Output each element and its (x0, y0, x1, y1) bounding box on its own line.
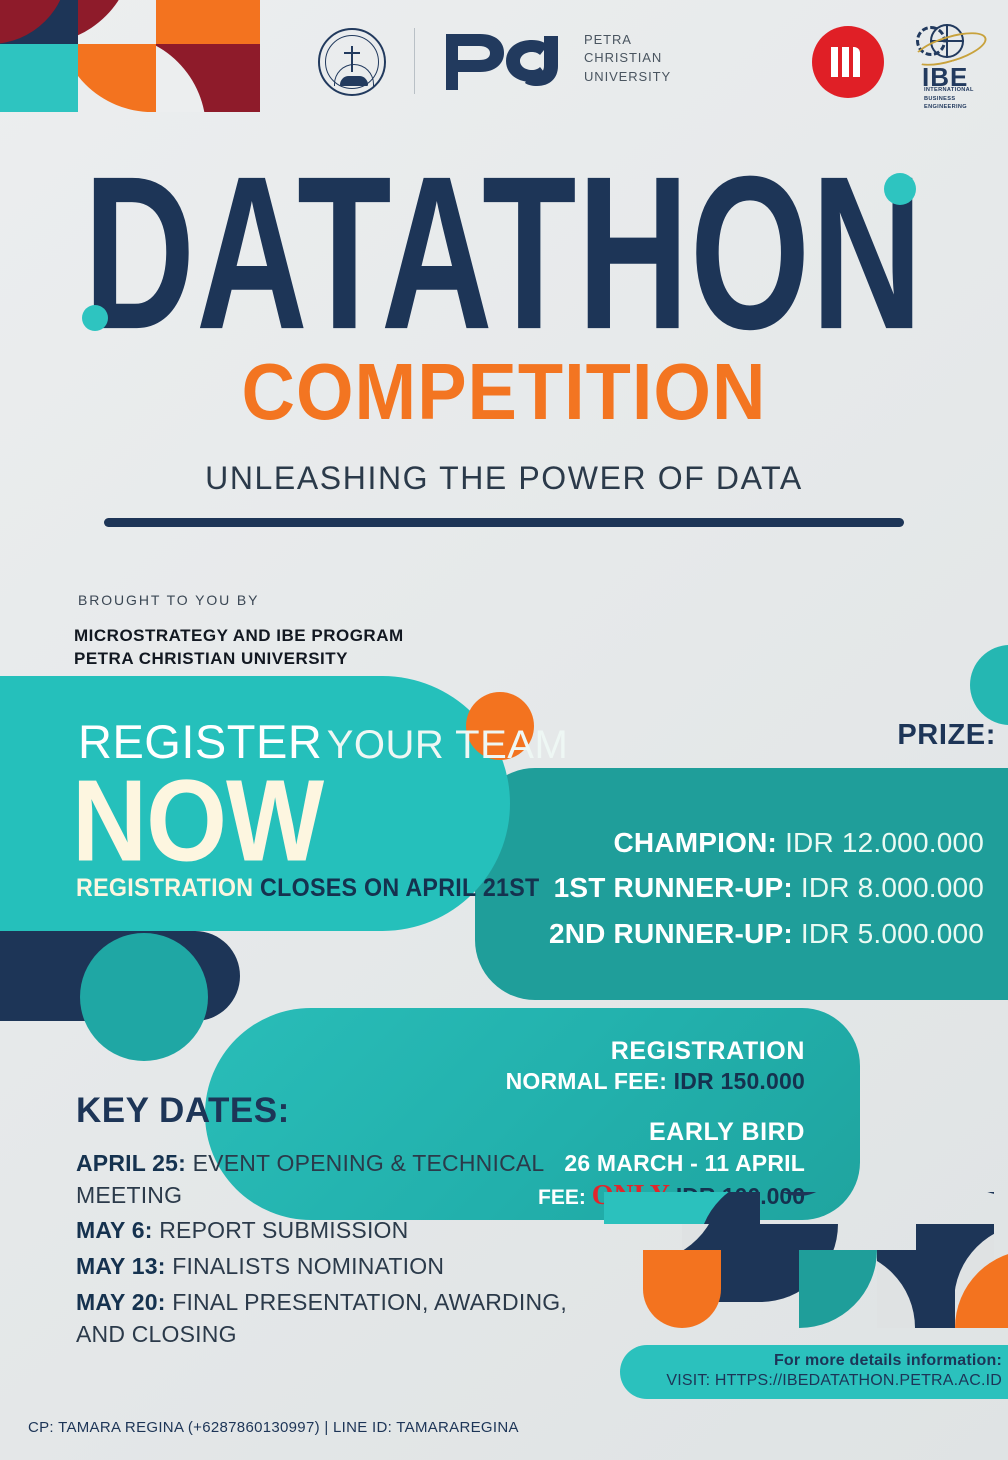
key-date-date: MAY 13: (76, 1253, 166, 1279)
pcu-name-line3: UNIVERSITY (584, 68, 671, 86)
petra-university-seal-icon (318, 28, 386, 96)
brought-by-organizers: MICROSTRATEGY AND IBE PROGRAM PETRA CHRI… (74, 625, 404, 671)
register-now-word: NOW (72, 755, 323, 888)
registration-closing-note: REGISTRATION CLOSES ON APRIL 21ST (76, 874, 540, 903)
geo-tile (877, 1250, 955, 1328)
register-your-team: YOUR TEAM (327, 723, 569, 767)
ibe-subtitle: INTERNATIONAL BUSINESS ENGINEERING (924, 86, 974, 112)
ibe-logo-icon: IBE INTERNATIONAL BUSINESS ENGINEERING (908, 22, 1000, 106)
fee-normal-row: NORMAL FEE: IDR 150.000 (205, 1068, 805, 1095)
key-date-item: APRIL 25: EVENT OPENING & TECHNICAL MEET… (76, 1148, 616, 1211)
ibe-sub-line1: INTERNATIONAL (924, 86, 974, 95)
key-date-date: MAY 20: (76, 1289, 166, 1315)
seal-base-shape (340, 76, 368, 86)
pcu-name-line2: CHRISTIAN (584, 49, 671, 67)
poster-canvas: PETRA CHRISTIAN UNIVERSITY IBE INTERNATI… (0, 0, 1008, 1460)
closing-bold: REGISTRATION (76, 874, 253, 902)
key-date-item: MAY 20: FINAL PRESENTATION, AWARDING, AN… (76, 1287, 616, 1350)
pcu-name-line1: PETRA (584, 31, 671, 49)
geo-tile (799, 1250, 877, 1328)
decorative-circle-right (970, 645, 1008, 725)
key-date-date: MAY 6: (76, 1217, 153, 1243)
prize-amount: IDR 8.000.000 (801, 872, 984, 903)
decorative-teal-circle-left (80, 933, 208, 1061)
microstrategy-bars-shape (831, 47, 865, 77)
key-dates-title: KEY DATES: (76, 1091, 290, 1131)
ibe-sub-line3: ENGINEERING (924, 103, 974, 112)
microstrategy-logo-icon (812, 26, 884, 98)
fee-normal-label: NORMAL FEE: (506, 1068, 668, 1094)
organizer-line2: PETRA CHRISTIAN UNIVERSITY (74, 648, 404, 671)
geo-tile (604, 1192, 682, 1224)
prize-amount: IDR 12.000.000 (785, 827, 984, 858)
fee-normal-amount: IDR 150.000 (674, 1068, 805, 1094)
teal-dot-left-icon (82, 305, 108, 331)
geo-tile (838, 1192, 916, 1224)
closing-rest: CLOSES ON APRIL 21ST (260, 874, 539, 902)
geo-tile (955, 1250, 1008, 1328)
pcu-name-text: PETRA CHRISTIAN UNIVERSITY (584, 31, 671, 86)
geo-tile (760, 1192, 838, 1224)
prize-amount: IDR 5.000.000 (801, 918, 984, 949)
geo-tile (643, 1250, 721, 1328)
prize-place: 1ST RUNNER-UP: (554, 872, 793, 903)
key-date-item: MAY 13: FINALISTS NOMINATION (76, 1251, 616, 1283)
title-divider-rule (104, 518, 904, 527)
footer-contact-person: CP: TAMARA REGINA (+6287860130997) | LIN… (28, 1419, 519, 1436)
pcu-wordmark-icon (440, 30, 568, 94)
page-subtitle: COMPETITION (0, 346, 1008, 438)
brought-by-label: BROUGHT TO YOU BY (78, 592, 259, 608)
prize-place: 2ND RUNNER-UP: (549, 918, 793, 949)
key-dates-list: APRIL 25: EVENT OPENING & TECHNICAL MEET… (76, 1148, 616, 1354)
logo-divider (414, 28, 415, 94)
key-date-desc: REPORT SUBMISSION (159, 1217, 408, 1243)
early-bird-heading: EARLY BIRD (205, 1118, 805, 1147)
teal-dot-right-icon (884, 173, 916, 205)
title-block: DATATHON (0, 150, 1008, 310)
page-title: DATATHON (84, 150, 924, 357)
footer-website-link[interactable]: VISIT: HTTPS://IBEDATATHON.PETRA.AC.ID (620, 1372, 1002, 1390)
key-date-desc: FINALISTS NOMINATION (172, 1253, 444, 1279)
page-tagline: UNLEASHING THE POWER OF DATA (0, 460, 1008, 497)
key-date-item: MAY 6: REPORT SUBMISSION (76, 1215, 616, 1247)
ibe-sub-line2: BUSINESS (924, 95, 974, 104)
fee-heading: REGISTRATION (205, 1037, 805, 1066)
prize-place: CHAMPION: (614, 827, 778, 858)
footer-more-details: For more details information: (620, 1352, 1002, 1370)
geo-tile (682, 1192, 760, 1224)
header-logo-bar: PETRA CHRISTIAN UNIVERSITY IBE INTERNATI… (0, 0, 1008, 122)
geo-tile (916, 1192, 994, 1224)
key-date-date: APRIL 25: (76, 1150, 186, 1176)
organizer-line1: MICROSTRATEGY AND IBE PROGRAM (74, 625, 404, 648)
